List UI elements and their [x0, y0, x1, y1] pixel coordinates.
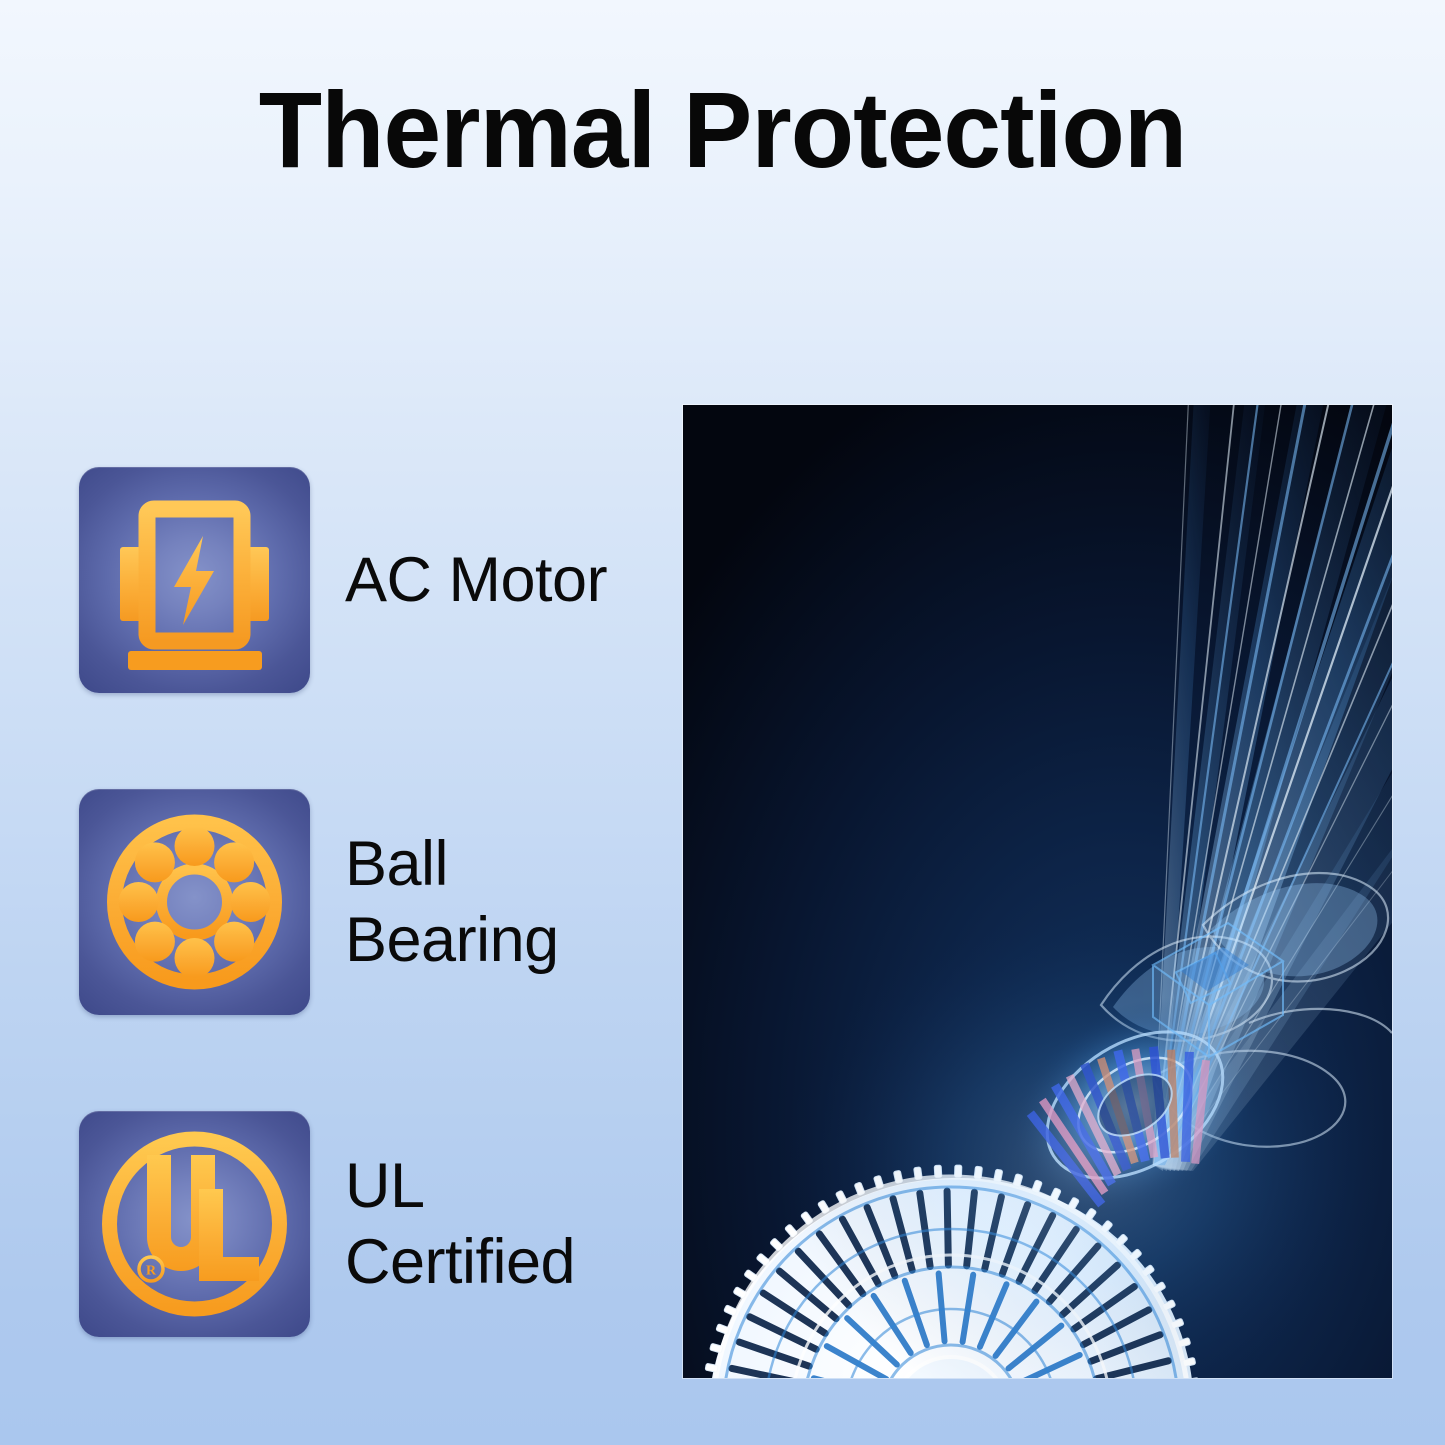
feature-row-ul-certified: R UL Certified — [79, 1111, 679, 1337]
ac-motor-icon-tile — [79, 467, 310, 693]
label-line: Certified — [345, 1224, 575, 1300]
ul-certified-icon-tile: R — [79, 1111, 310, 1337]
feature-label-ul-certified: UL Certified — [345, 1148, 575, 1300]
feature-row-ac-motor: AC Motor — [79, 467, 679, 693]
feature-row-ball-bearing: Ball Bearing — [79, 789, 679, 1015]
ul-certified-icon: R — [79, 1111, 310, 1337]
feature-list: AC Motor — [79, 467, 679, 1337]
ac-motor-icon — [79, 467, 310, 693]
label-line: Ball — [345, 826, 559, 902]
product-photo-art — [683, 405, 1392, 1378]
label-line: AC Motor — [345, 542, 607, 618]
ball-bearing-icon-tile — [79, 789, 310, 1015]
label-line: UL — [345, 1148, 575, 1224]
infographic-page: Thermal Protection — [0, 0, 1445, 1445]
label-line: Bearing — [345, 902, 559, 978]
product-photo — [683, 405, 1392, 1378]
feature-label-ac-motor: AC Motor — [345, 542, 607, 618]
feature-label-ball-bearing: Ball Bearing — [345, 826, 559, 978]
svg-text:R: R — [146, 1264, 157, 1279]
page-title: Thermal Protection — [29, 74, 1416, 186]
ball-bearing-icon — [79, 789, 310, 1015]
